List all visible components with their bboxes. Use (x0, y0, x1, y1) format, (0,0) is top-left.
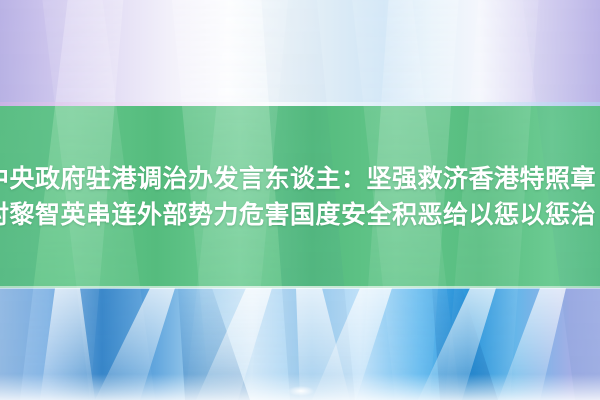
background-band-top (0, 0, 600, 106)
background-band-bottom (0, 288, 600, 400)
headline-container: 中央政府驻港调治办发言东谈主：坚强救济香港特照章对黎智英串连外部势力危害国度安全… (0, 106, 600, 288)
headline-text: 中央政府驻港调治办发言东谈主：坚强救济香港特照章对黎智英串连外部势力危害国度安全… (0, 161, 600, 233)
news-banner: 中央政府驻港调治办发言东谈主：坚强救济香港特照章对黎智英串连外部势力危害国度安全… (0, 0, 600, 400)
